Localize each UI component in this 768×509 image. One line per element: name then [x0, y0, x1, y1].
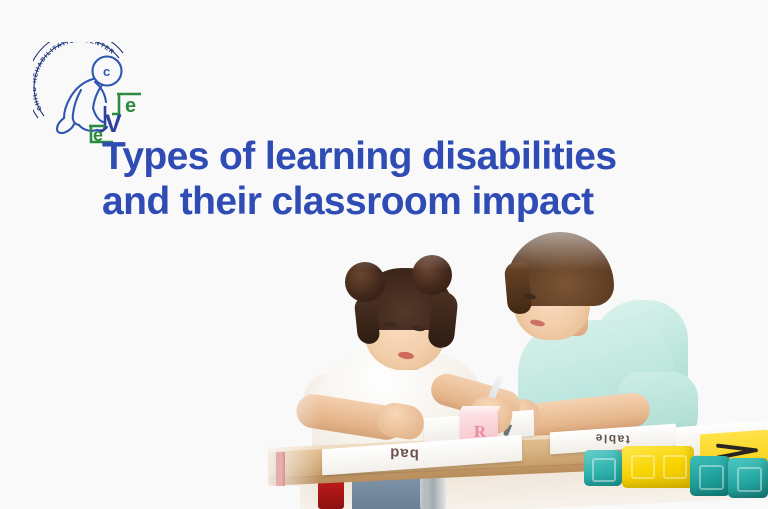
chair-frame [420, 474, 446, 509]
classroom-tutoring-photo: R bad table [0, 0, 768, 509]
page-title: Types of learning disabilities and their… [102, 134, 702, 224]
student-hair-side-right [427, 291, 459, 349]
banner: CHILD REHABILITATION CENTER [0, 0, 768, 509]
photo-fade-bottom [0, 486, 300, 509]
photo-fade-left [230, 0, 320, 509]
toy-block-teal-2 [690, 456, 730, 496]
toy-block-teal-3 [728, 458, 768, 498]
toy-block-teal-1 [584, 450, 622, 486]
toy-block-yellow [622, 446, 694, 488]
